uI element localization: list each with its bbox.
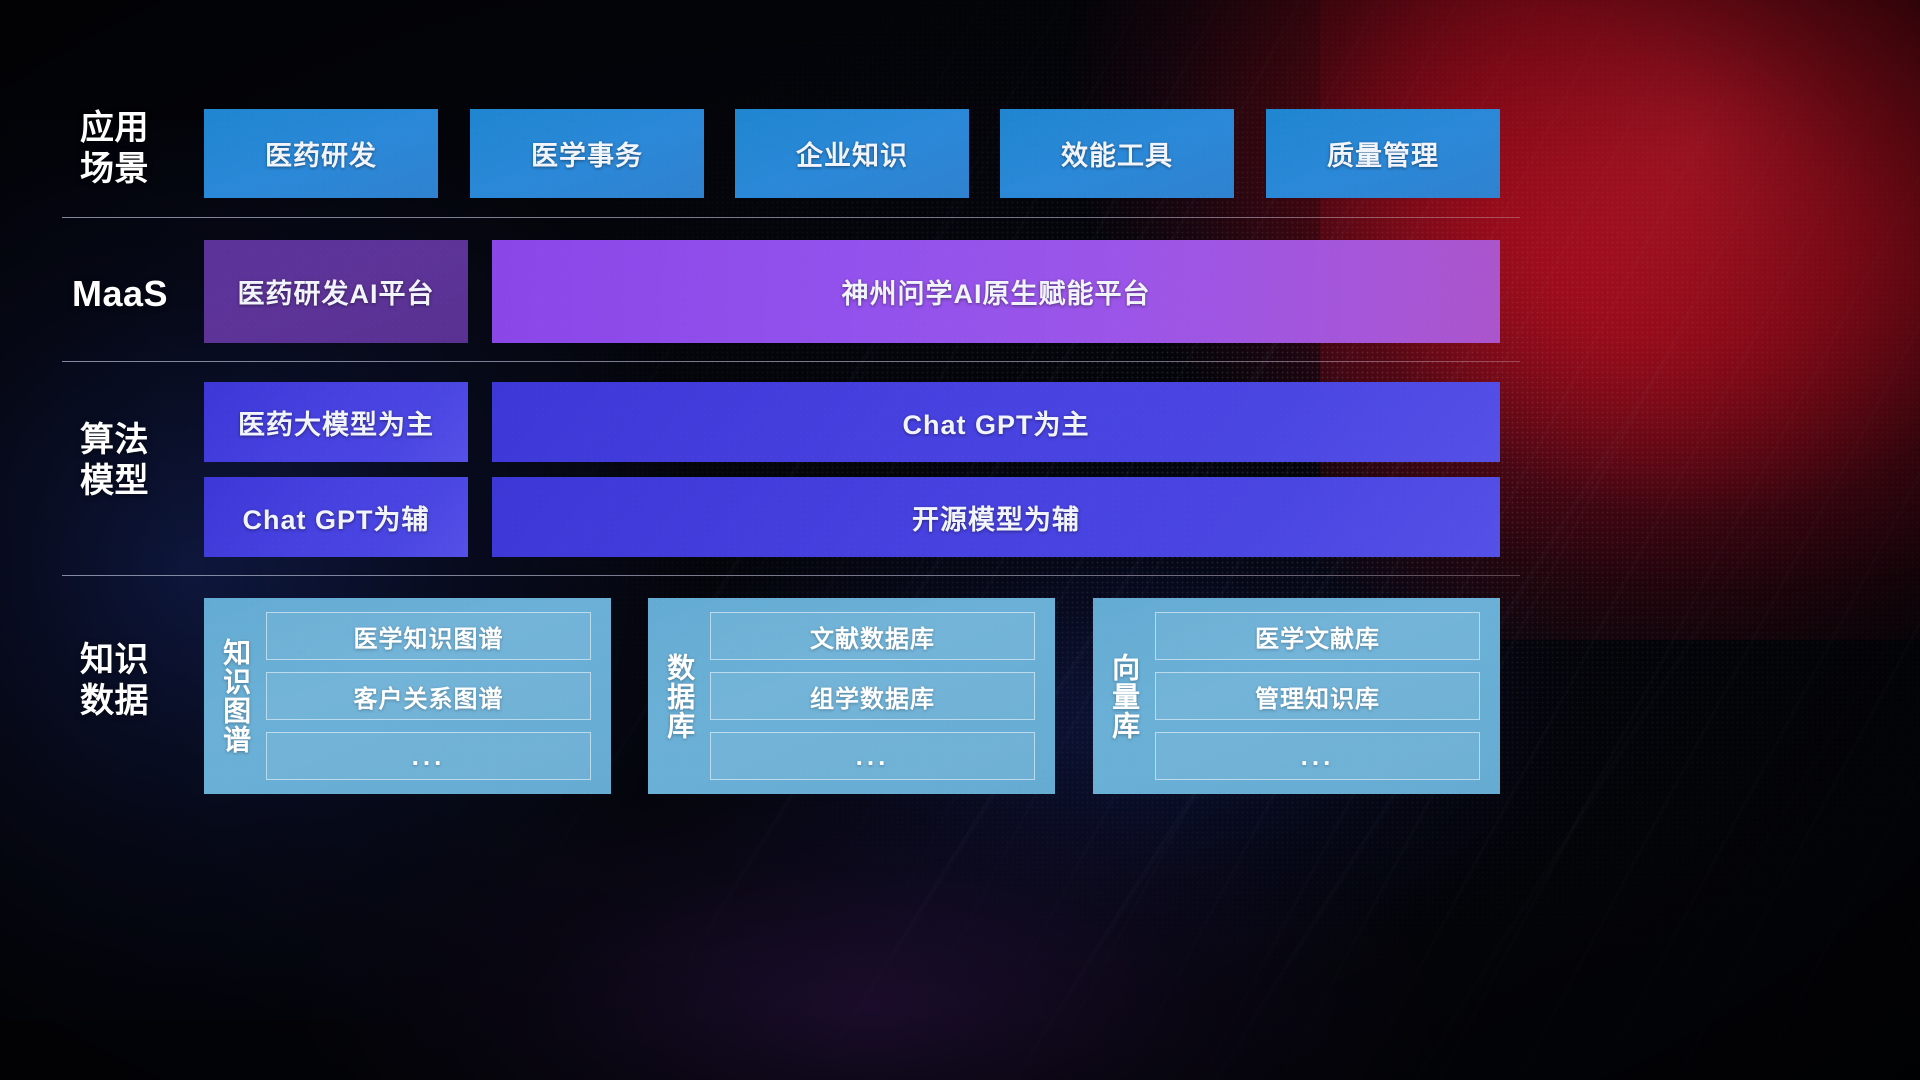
app-box-medicine-rnd[interactable]: 医药研发 <box>204 109 438 198</box>
divider-3 <box>62 575 1520 576</box>
algo-box-chatgpt-primary[interactable]: Chat GPT为主 <box>492 382 1500 462</box>
algo-box-pharma-llm-primary[interactable]: 医药大模型为主 <box>204 382 468 462</box>
app-box-medical-affairs[interactable]: 医学事务 <box>470 109 704 198</box>
knowledge-item[interactable]: 文献数据库 <box>710 612 1035 660</box>
knowledge-group-title: 向量库 <box>1093 612 1155 780</box>
app-box-label: 企业知识 <box>796 134 908 173</box>
knowledge-item-more[interactable]: ... <box>710 732 1035 780</box>
knowledge-item-more[interactable]: ... <box>266 732 591 780</box>
algo-box-label: Chat GPT为主 <box>902 403 1089 442</box>
knowledge-group-vector-store[interactable]: 向量库 医学文献库 管理知识库 ... <box>1093 598 1500 794</box>
algo-box-label: Chat GPT为辅 <box>242 498 429 537</box>
maas-box-shenzhou-wenxue-platform[interactable]: 神州问学AI原生赋能平台 <box>492 240 1500 343</box>
app-box-label: 效能工具 <box>1061 134 1173 173</box>
knowledge-group-items: 医学知识图谱 客户关系图谱 ... <box>266 612 595 780</box>
algo-box-label: 医药大模型为主 <box>238 403 434 442</box>
architecture-diagram-slide: 应用 场景 医药研发 医学事务 企业知识 效能工具 质量管理 MaaS 医药研发… <box>0 0 1920 1080</box>
maas-box-pharma-ai-platform[interactable]: 医药研发AI平台 <box>204 240 468 343</box>
algo-box-opensource-secondary[interactable]: 开源模型为辅 <box>492 477 1500 557</box>
maas-box-label: 医药研发AI平台 <box>238 272 435 311</box>
app-box-efficiency-tools[interactable]: 效能工具 <box>1000 109 1234 198</box>
row-label-algorithm-model: 算法 模型 <box>80 420 200 503</box>
knowledge-item[interactable]: 管理知识库 <box>1155 672 1480 720</box>
app-box-label: 医药研发 <box>265 134 377 173</box>
app-box-quality-management[interactable]: 质量管理 <box>1266 109 1500 198</box>
divider-2 <box>62 361 1520 362</box>
knowledge-item[interactable]: 医学知识图谱 <box>266 612 591 660</box>
knowledge-group-database[interactable]: 数据库 文献数据库 组学数据库 ... <box>648 598 1055 794</box>
app-box-enterprise-knowledge[interactable]: 企业知识 <box>735 109 969 198</box>
app-box-label: 质量管理 <box>1327 134 1439 173</box>
knowledge-group-items: 医学文献库 管理知识库 ... <box>1155 612 1484 780</box>
app-box-label: 医学事务 <box>531 134 643 173</box>
knowledge-group-knowledge-graph[interactable]: 知识图谱 医学知识图谱 客户关系图谱 ... <box>204 598 611 794</box>
row-label-knowledge-data: 知识 数据 <box>80 640 200 723</box>
knowledge-group-title: 数据库 <box>648 612 710 780</box>
divider-1 <box>62 217 1520 218</box>
knowledge-item-more[interactable]: ... <box>1155 732 1480 780</box>
algo-box-chatgpt-secondary[interactable]: Chat GPT为辅 <box>204 477 468 557</box>
knowledge-item[interactable]: 医学文献库 <box>1155 612 1480 660</box>
knowledge-group-title: 知识图谱 <box>204 612 266 780</box>
knowledge-item[interactable]: 客户关系图谱 <box>266 672 591 720</box>
knowledge-group-items: 文献数据库 组学数据库 ... <box>710 612 1039 780</box>
maas-box-label: 神州问学AI原生赋能平台 <box>842 272 1151 311</box>
algo-box-label: 开源模型为辅 <box>912 498 1080 537</box>
diagram-content: 应用 场景 医药研发 医学事务 企业知识 效能工具 质量管理 MaaS 医药研发… <box>0 0 1920 1080</box>
row-label-application-scenarios: 应用 场景 <box>80 108 200 191</box>
knowledge-item[interactable]: 组学数据库 <box>710 672 1035 720</box>
